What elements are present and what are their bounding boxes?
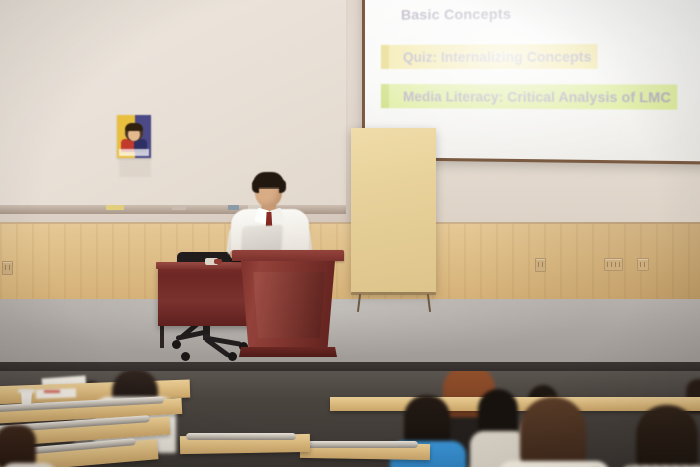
lecture-hall-photo: Basic Concepts Quiz: Internalizing Conce… bbox=[0, 0, 700, 467]
marker-blue-icon bbox=[228, 205, 239, 210]
side-desk bbox=[158, 264, 256, 326]
slide-bullet-quiz: Quiz: Internalizing Concepts bbox=[381, 44, 598, 69]
coffee-cup-lid bbox=[18, 389, 35, 393]
audience-seating bbox=[0, 371, 700, 467]
marker-white-icon bbox=[172, 205, 186, 210]
wall-poster-figure-hair bbox=[125, 123, 143, 131]
office-chair-wheel bbox=[172, 340, 181, 349]
banner-base-bar bbox=[351, 292, 436, 295]
podium-base bbox=[239, 347, 337, 357]
attendee-body-floral-blouse bbox=[498, 461, 610, 467]
attendee-hair bbox=[0, 425, 36, 467]
outlet-slots-icon bbox=[5, 265, 10, 270]
power-outlet-icon bbox=[535, 258, 546, 272]
wood-panel-shadow bbox=[470, 222, 700, 301]
whiteboard bbox=[0, 0, 346, 208]
outlet-slots-icon bbox=[538, 262, 543, 267]
podium-front-panel bbox=[253, 272, 325, 338]
stage-floor-reflection bbox=[0, 299, 700, 371]
desk-rail bbox=[186, 433, 296, 440]
office-chair-wheel bbox=[181, 352, 190, 361]
wall-poster-sub-text bbox=[119, 160, 151, 176]
slide-bullet-accent-quiz bbox=[381, 45, 389, 69]
attendee-hair bbox=[478, 389, 518, 435]
slide-bullet-highlight-media: Media Literacy: Critical Analysis of LMC bbox=[389, 84, 677, 110]
outlet-slots-icon bbox=[640, 262, 646, 267]
slide-bullet-accent-media bbox=[381, 84, 389, 108]
laptop bbox=[242, 225, 282, 253]
wall-poster-caption-band bbox=[119, 149, 149, 156]
podium-top bbox=[232, 250, 344, 261]
marker-yellow-icon bbox=[106, 205, 124, 210]
attendee-hair bbox=[404, 395, 450, 447]
power-outlet-wide-icon bbox=[604, 258, 623, 271]
roll-up-banner: ENHANCING E-LEARNING EDUCATION WITH INTE… bbox=[351, 128, 436, 293]
side-desk-leg bbox=[160, 326, 164, 348]
slide-heading: Basic Concepts bbox=[401, 6, 511, 23]
slide-bullet-label-quiz: Quiz: Internalizing Concepts bbox=[403, 49, 591, 65]
slide-bullet-highlight-quiz: Quiz: Internalizing Concepts bbox=[389, 44, 598, 69]
desk-item-red bbox=[214, 259, 222, 264]
slide-bullet-label-media: Media Literacy: Critical Analysis of LMC bbox=[403, 89, 671, 105]
wall-poster bbox=[117, 115, 151, 158]
power-outlet-icon bbox=[2, 261, 13, 275]
office-chair-wheel bbox=[228, 352, 237, 361]
slide-bullet-media-literacy: Media Literacy: Critical Analysis of LMC bbox=[381, 84, 677, 110]
paper-handout-red-band bbox=[44, 390, 60, 393]
desk-rail bbox=[306, 441, 418, 448]
attendee-hair bbox=[636, 405, 698, 467]
light-switch-icon bbox=[637, 258, 649, 271]
outlet-slots-icon bbox=[607, 262, 620, 267]
presenter-glasses-icon bbox=[256, 188, 281, 194]
attendee-body bbox=[0, 463, 58, 467]
attendee-hair bbox=[520, 397, 586, 467]
